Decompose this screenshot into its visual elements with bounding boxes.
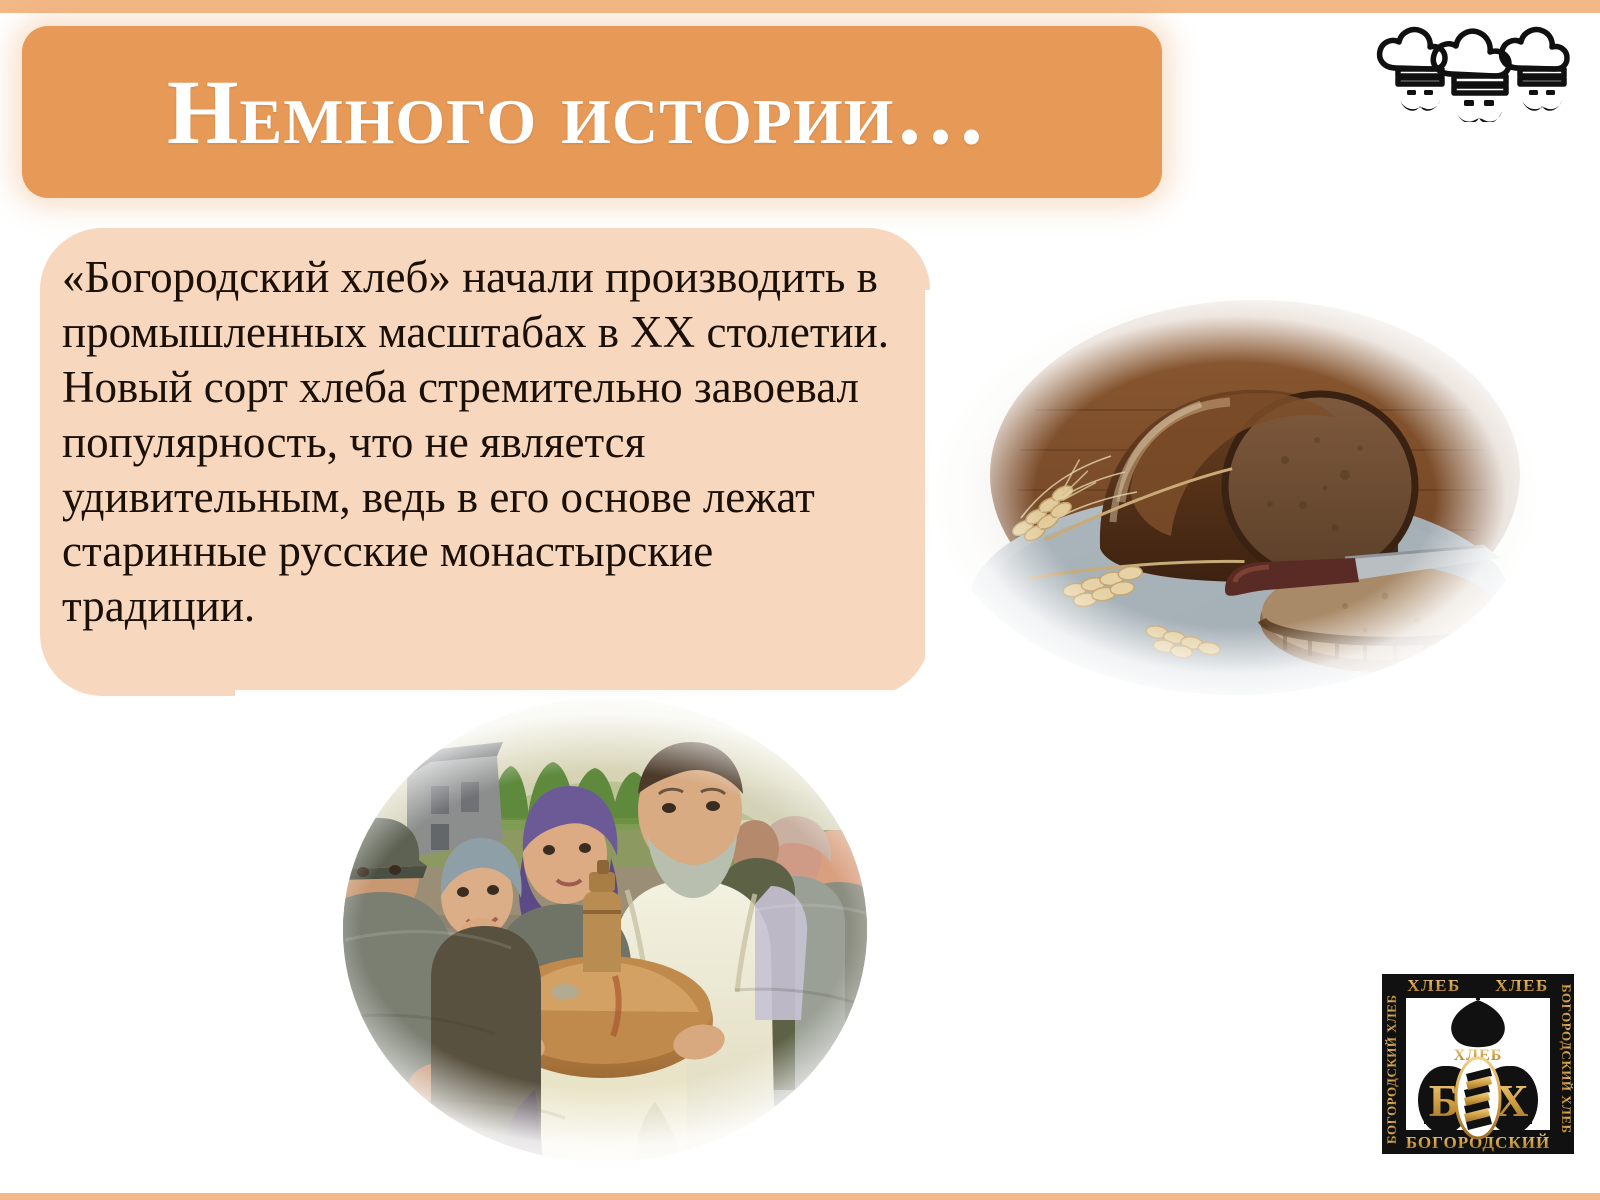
chef-eye bbox=[1424, 90, 1433, 95]
logo-left-side-word: БОГОРОДСКИЙ ХЛЕБ bbox=[1384, 994, 1399, 1144]
slide-root: Немного истории… bbox=[0, 0, 1600, 1200]
logo-top-right-word: ХЛЕБ bbox=[1495, 976, 1549, 995]
title-banner: Немного истории… bbox=[22, 26, 1162, 198]
three-chefs-logo bbox=[1374, 22, 1582, 122]
history-text-card: «Богородский хлеб» начали производить в … bbox=[40, 228, 930, 696]
bogorodsky-hleb-logo: ХЛЕБ ХЛЕБ БОГОРОДСКИЙ БОГОРОДСКИЙ ХЛЕБ Б… bbox=[1372, 948, 1584, 1160]
chef-eye bbox=[1529, 90, 1538, 95]
chef-eye bbox=[1484, 100, 1494, 106]
history-body-text: «Богородский хлеб» начали производить в … bbox=[62, 250, 912, 634]
bottom-decorative-strip bbox=[0, 1193, 1600, 1200]
chef-mustache bbox=[1400, 100, 1562, 122]
logo-right-side-word: БОГОРОДСКИЙ ХЛЕБ bbox=[1559, 984, 1574, 1134]
chef-eye bbox=[1464, 100, 1474, 106]
page-title: Немного истории… bbox=[167, 66, 987, 158]
chef-eye bbox=[1407, 90, 1416, 95]
chef-eye bbox=[1546, 90, 1555, 95]
top-decorative-strip bbox=[0, 0, 1600, 13]
chef-hat-right bbox=[1502, 30, 1567, 84]
bread-and-salt-painting bbox=[235, 690, 975, 1170]
bread-loaf-emblem bbox=[1456, 1058, 1500, 1138]
logo-top-left-word: ХЛЕБ bbox=[1407, 976, 1461, 995]
sliced-rye-bread-photo bbox=[925, 290, 1545, 700]
